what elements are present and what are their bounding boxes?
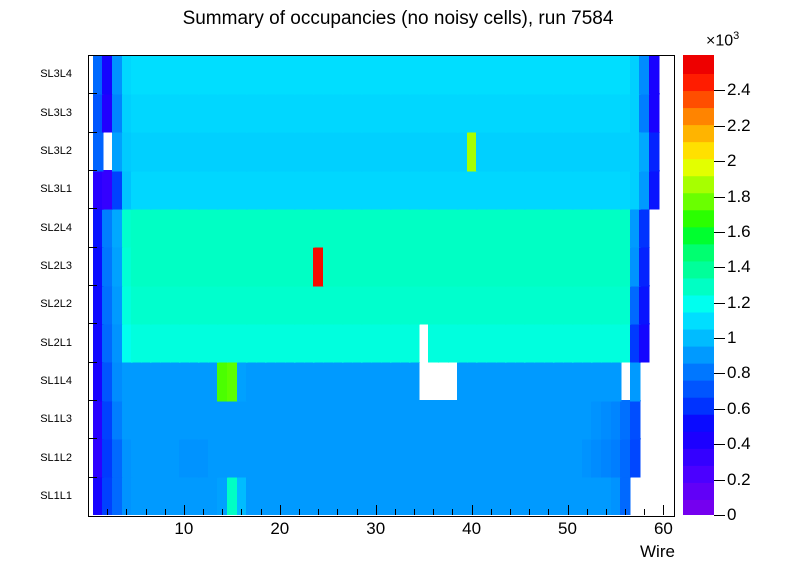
color-scale-tick (714, 515, 725, 516)
color-scale-label-2p4: 2.4 (727, 80, 751, 100)
color-scale-label-1p2: 1.2 (727, 293, 751, 313)
color-scale-tick (714, 267, 725, 268)
y-axis-tick (88, 477, 97, 478)
y-axis-tick (88, 323, 97, 324)
y-axis-tick (88, 208, 97, 209)
color-scale-tick (714, 232, 725, 233)
x-axis-tick (606, 509, 607, 515)
color-scale-exponent-power: 3 (733, 30, 739, 42)
x-axis-tick (472, 505, 473, 515)
x-axis-tick (491, 509, 492, 515)
heatmap-canvas[interactable] (88, 55, 673, 515)
x-axis-tick (165, 509, 166, 515)
x-axis-tick (644, 509, 645, 515)
color-scale-tick (714, 90, 725, 91)
color-scale-canvas (683, 55, 714, 515)
color-scale-label-0p4: 0.4 (727, 434, 751, 454)
color-scale-label-0p6: 0.6 (727, 399, 751, 419)
x-axis-tick-label-20: 20 (270, 519, 289, 539)
y-axis-tick (88, 247, 97, 248)
y-axis-label-sl3l3: SL3L3 (40, 107, 72, 119)
x-axis-tick-label-50: 50 (558, 519, 577, 539)
x-axis-tick (452, 509, 453, 515)
x-axis-tick-label-60: 60 (654, 519, 673, 539)
y-axis-label-sl1l4: SL1L4 (40, 375, 72, 387)
color-scale-label-2p2: 2.2 (727, 116, 751, 136)
heatmap-plot-area[interactable] (88, 55, 673, 515)
color-scale-exponent: ×103 (706, 30, 739, 50)
color-scale-tick (714, 197, 725, 198)
color-scale-tick (714, 480, 725, 481)
color-scale-label-0p8: 0.8 (727, 363, 751, 383)
x-axis-tick-label-40: 40 (462, 519, 481, 539)
x-axis-title: Wire (640, 542, 675, 562)
color-scale-label-1p6: 1.6 (727, 222, 751, 242)
color-scale-exponent-base: ×10 (706, 32, 733, 49)
color-scale-tick (714, 303, 725, 304)
x-axis-tick (357, 509, 358, 515)
x-axis-tick (337, 509, 338, 515)
x-axis-tick-label-10: 10 (174, 519, 193, 539)
y-axis: SL3L4SL3L3SL3L2SL3L1SL2L4SL2L3SL2L2SL2L1… (0, 55, 84, 515)
x-axis-tick (568, 505, 569, 515)
y-axis-tick (88, 285, 97, 286)
x-axis-tick (587, 509, 588, 515)
x-axis-tick (146, 509, 147, 515)
x-axis-tick (529, 509, 530, 515)
y-axis-label-sl2l4: SL2L4 (40, 222, 72, 234)
y-axis-label-sl1l2: SL1L2 (40, 452, 72, 464)
y-axis-label-sl2l3: SL2L3 (40, 260, 72, 272)
x-axis-tick (395, 509, 396, 515)
x-axis-tick (548, 509, 549, 515)
y-axis-label-sl3l4: SL3L4 (40, 68, 72, 80)
color-scale-tick (714, 126, 725, 127)
y-axis-tick (88, 93, 97, 94)
x-axis-tick (184, 505, 185, 515)
x-axis-tick (433, 509, 434, 515)
y-axis-tick (88, 132, 97, 133)
color-scale-tick (714, 409, 725, 410)
y-axis-label-sl3l2: SL3L2 (40, 145, 72, 157)
y-axis-label-sl2l1: SL2L1 (40, 337, 72, 349)
y-axis-label-sl2l2: SL2L2 (40, 298, 72, 310)
x-axis-tick (299, 509, 300, 515)
y-axis-label-sl1l3: SL1L3 (40, 413, 72, 425)
x-axis-tick (510, 509, 511, 515)
color-scale-tick (714, 373, 725, 374)
x-axis-tick (414, 509, 415, 515)
y-axis-tick (88, 170, 97, 171)
color-scale-tick (714, 161, 725, 162)
x-axis-tick-label-30: 30 (366, 519, 385, 539)
color-scale-label-1p4: 1.4 (727, 257, 751, 277)
y-axis-label-sl3l1: SL3L1 (40, 183, 72, 195)
color-scale-label-0: 0 (727, 505, 736, 525)
color-scale-label-2: 2 (727, 151, 736, 171)
y-axis-tick (88, 438, 97, 439)
color-scale-tick (714, 444, 725, 445)
x-axis-tick (222, 509, 223, 515)
x-axis-tick (203, 509, 204, 515)
x-axis-tick (318, 509, 319, 515)
page-title: Summary of occupancies (no noisy cells),… (0, 8, 796, 30)
x-axis-tick (280, 505, 281, 515)
x-axis-tick (376, 505, 377, 515)
y-axis-tick (88, 362, 97, 363)
x-axis-tick (663, 505, 664, 515)
color-scale-label-1p8: 1.8 (727, 187, 751, 207)
y-axis-label-sl1l1: SL1L1 (40, 490, 72, 502)
color-scale-label-1: 1 (727, 328, 736, 348)
color-scale-tick (714, 338, 725, 339)
y-axis-tick (88, 400, 97, 401)
x-axis-tick (107, 509, 108, 515)
x-axis-tick (241, 509, 242, 515)
x-axis-tick (126, 509, 127, 515)
x-axis-tick (625, 509, 626, 515)
x-axis-tick (261, 509, 262, 515)
color-scale-bar[interactable] (683, 55, 714, 515)
root-canvas: Summary of occupancies (no noisy cells),… (0, 0, 796, 572)
color-scale-label-0p2: 0.2 (727, 470, 751, 490)
